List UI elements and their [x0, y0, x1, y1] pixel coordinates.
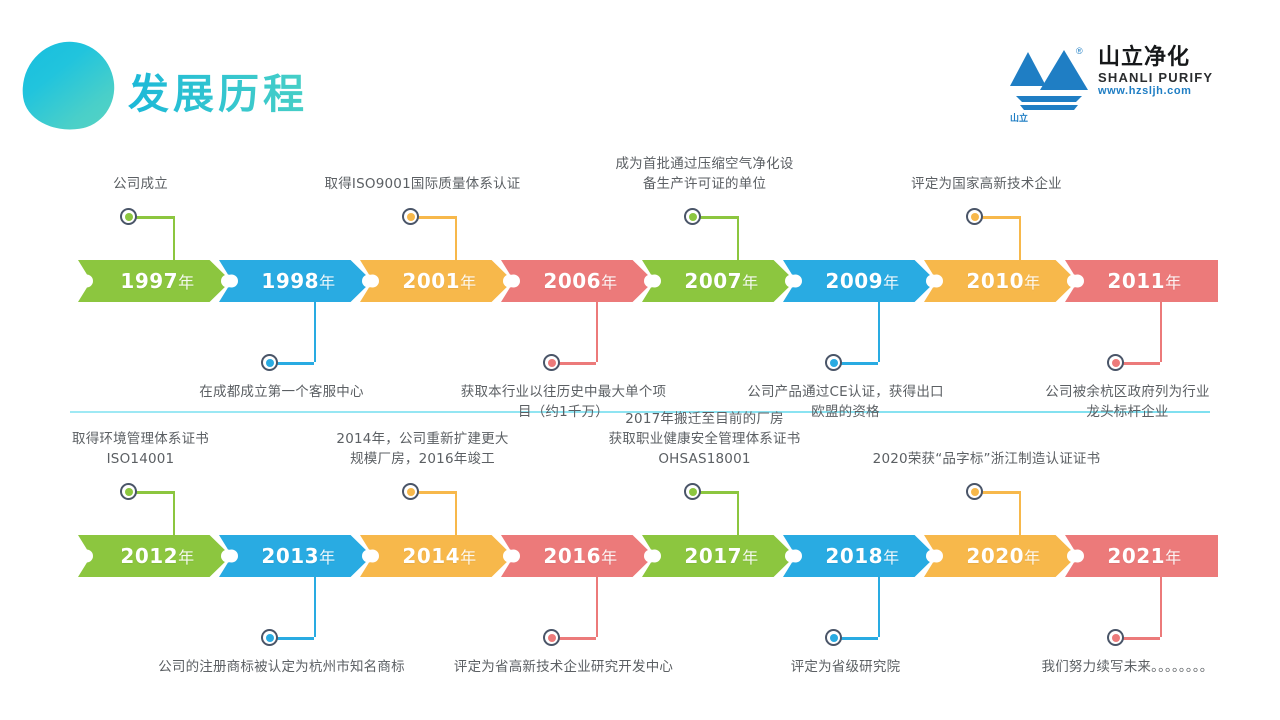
year-number: 1997: [120, 269, 178, 293]
node-dot: [266, 359, 274, 367]
timeline-node-2014[interactable]: [402, 483, 419, 500]
year-number: 2021: [1107, 544, 1165, 568]
node-dot: [548, 634, 556, 642]
node-dot: [971, 213, 979, 221]
year-number: 2010: [966, 269, 1024, 293]
segment-year-label: 2010年: [924, 269, 1077, 293]
segment-year-label: 2001年: [360, 269, 513, 293]
year-suffix: 年: [601, 548, 618, 567]
logo-mark-label: 山立: [1010, 111, 1028, 124]
year-suffix: 年: [178, 548, 195, 567]
year-number: 2001: [402, 269, 460, 293]
year-number: 2007: [684, 269, 742, 293]
timeline-node-2017[interactable]: [684, 483, 701, 500]
page-title: 发展历程: [128, 60, 308, 120]
timeline-node-2021[interactable]: [1107, 629, 1124, 646]
year-number: 2011: [1107, 269, 1165, 293]
year-number: 2018: [825, 544, 883, 568]
timeline-node-2016[interactable]: [543, 629, 560, 646]
node-dot: [1112, 359, 1120, 367]
segment-year-label: 2006年: [501, 269, 654, 293]
year-number: 2014: [402, 544, 460, 568]
timeline-row-2: 2012年2013年2014年2016年2017年2018年2020年2021年…: [0, 425, 1280, 685]
timeline-node-2007[interactable]: [684, 208, 701, 225]
year-suffix: 年: [883, 548, 900, 567]
segment-year-label: 2016年: [501, 544, 654, 568]
logo-name-en: SHANLI PURIFY: [1098, 70, 1224, 85]
registered-mark: ®: [1076, 46, 1083, 56]
year-suffix: 年: [319, 273, 336, 292]
slide-root: 发展历程 ® 山立 山立净化 SHANLI PURIFY www.hzsljh.…: [0, 0, 1280, 720]
connector-vertical: [1160, 302, 1163, 362]
segment-year-label: 2020年: [924, 544, 1077, 568]
node-dot: [689, 213, 697, 221]
timeline-node-2018[interactable]: [825, 629, 842, 646]
node-dot: [548, 359, 556, 367]
node-dot: [407, 488, 415, 496]
year-suffix: 年: [1165, 273, 1182, 292]
timeline-node-2006[interactable]: [543, 354, 560, 371]
segment-year-label: 2011年: [1065, 269, 1218, 293]
node-dot: [266, 634, 274, 642]
timeline-row-1: 1997年1998年2001年2006年2007年2009年2010年2011年…: [0, 150, 1280, 410]
timeline-node-2013[interactable]: [261, 629, 278, 646]
connector-vertical: [1160, 577, 1163, 637]
year-suffix: 年: [460, 273, 477, 292]
company-logo: ® 山立 山立净化 SHANLI PURIFY www.hzsljh.com: [1006, 46, 1222, 122]
node-dot: [830, 359, 838, 367]
year-number: 2016: [543, 544, 601, 568]
year-number: 2017: [684, 544, 742, 568]
year-number: 1998: [261, 269, 319, 293]
timeline-node-1998[interactable]: [261, 354, 278, 371]
year-suffix: 年: [1165, 548, 1182, 567]
segment-year-label: 2017年: [642, 544, 795, 568]
logo-website: www.hzsljh.com: [1098, 85, 1224, 98]
node-dot: [1112, 634, 1120, 642]
timeline-node-2012[interactable]: [120, 483, 137, 500]
segment-year-label: 2009年: [783, 269, 936, 293]
node-dot: [971, 488, 979, 496]
segment-year-label: 2012年: [78, 544, 231, 568]
year-number: 2012: [120, 544, 178, 568]
segment-year-label: 2018年: [783, 544, 936, 568]
timeline-node-2001[interactable]: [402, 208, 419, 225]
node-dot: [689, 488, 697, 496]
year-suffix: 年: [319, 548, 336, 567]
year-suffix: 年: [1024, 548, 1041, 567]
timeline-node-2011[interactable]: [1107, 354, 1124, 371]
node-dot: [830, 634, 838, 642]
year-suffix: 年: [742, 273, 759, 292]
segment-year-label: 2014年: [360, 544, 513, 568]
year-number: 2006: [543, 269, 601, 293]
node-dot: [125, 488, 133, 496]
segment-year-label: 2013年: [219, 544, 372, 568]
year-number: 2020: [966, 544, 1024, 568]
timeline-node-2020[interactable]: [966, 483, 983, 500]
year-suffix: 年: [742, 548, 759, 567]
timeline-node-1997[interactable]: [120, 208, 137, 225]
timeline-node-2010[interactable]: [966, 208, 983, 225]
mountain-icon: [1006, 46, 1092, 116]
segment-year-label: 2021年: [1065, 544, 1218, 568]
timeline-node-2009[interactable]: [825, 354, 842, 371]
year-suffix: 年: [601, 273, 618, 292]
year-suffix: 年: [883, 273, 900, 292]
segment-year-label: 1997年: [78, 269, 231, 293]
segment-year-label: 2007年: [642, 269, 795, 293]
year-suffix: 年: [460, 548, 477, 567]
logo-name-cn: 山立净化: [1098, 46, 1224, 70]
year-suffix: 年: [1024, 273, 1041, 292]
decorative-blob: [16, 36, 119, 136]
segment-year-label: 1998年: [219, 269, 372, 293]
year-number: 2013: [261, 544, 319, 568]
year-number: 2009: [825, 269, 883, 293]
node-dot: [125, 213, 133, 221]
node-dot: [407, 213, 415, 221]
year-suffix: 年: [178, 273, 195, 292]
